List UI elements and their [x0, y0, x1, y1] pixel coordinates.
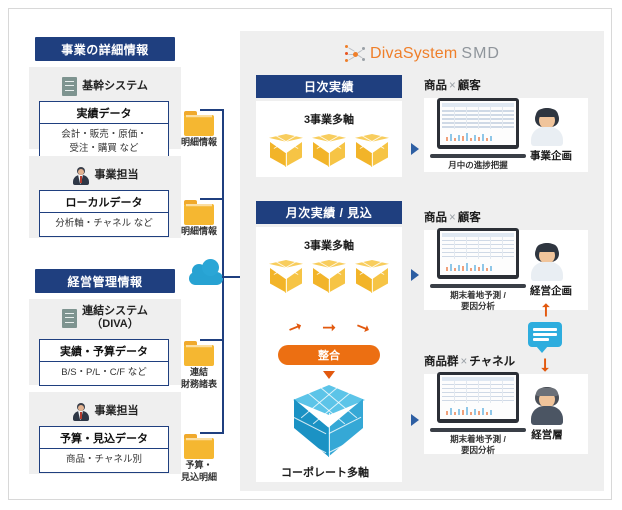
- step-arrow-icon: [411, 143, 419, 155]
- server-icon: [62, 77, 77, 96]
- logo-brand-text: DivaSystem: [370, 45, 457, 63]
- axis-label-monthly: 商品×顧客: [424, 209, 588, 225]
- cloud-icon: [189, 261, 223, 285]
- data-card-title: 実績・予算データ: [40, 340, 168, 362]
- axis-b: 顧客: [458, 80, 481, 92]
- source-block-budget-forecast: 事業担当 予算・見込データ 商品・チャネル別: [29, 392, 181, 474]
- folder-group-detail-1: 明細情報: [169, 111, 229, 149]
- laptop-icon: [430, 228, 526, 290]
- chat-bubble-icon: [528, 322, 562, 351]
- connector-stub-3: [200, 339, 224, 341]
- flow-header-monthly: 月次実績 / 見込: [256, 201, 402, 224]
- up-arrow-icon: ➞: [537, 302, 555, 317]
- persona-name-executive: 経営層: [530, 427, 564, 442]
- data-card-body: B/S・P/L・C/F など: [40, 362, 168, 385]
- corporate-cube-title: コーポレート多軸: [281, 464, 353, 480]
- connector-stub-2: [200, 198, 224, 200]
- cube-box-daily: 3事業多軸: [256, 101, 402, 177]
- product-logo: DivaSystem SMD: [240, 41, 604, 67]
- source-block-core-system: 基幹システム 実績データ 会計・販売・原価・ 受注・購買 など: [29, 67, 181, 149]
- data-card-actual-budget: 実績・予算データ B/S・P/L・C/F など: [39, 339, 169, 386]
- flow-card-daily: 日次実績 3事業多軸: [256, 75, 402, 177]
- cube-row-daily: [256, 134, 402, 168]
- axis-a: 商品: [424, 80, 447, 92]
- cube-row-monthly: [256, 260, 402, 294]
- data-card-title: ローカルデータ: [40, 191, 168, 213]
- business-cube-icon: [312, 260, 346, 294]
- output-box-executive: 期末着地予測 / 要因分析 経営層: [424, 374, 588, 454]
- folder-label: 予算・ 見込明細: [169, 460, 229, 483]
- data-sources-column: 事業の詳細情報 基幹システム 実績データ 会計・販売・原価・ 受注・購買 など …: [23, 23, 223, 489]
- connector-stub-1: [200, 109, 224, 111]
- multiply-symbol: ×: [459, 356, 470, 368]
- data-card-body: 商品・チャネル別: [40, 449, 168, 472]
- person-icon: [72, 166, 90, 185]
- business-cube-icon: [355, 260, 389, 294]
- source-header: 基幹システム: [29, 73, 181, 99]
- cube-title-monthly: 3事業多軸: [256, 227, 402, 253]
- flow-header-daily: 日次実績: [256, 75, 402, 98]
- laptop-caption-executive: 期末着地予測 / 要因分析: [430, 434, 526, 457]
- flow-card-monthly: 月次実績 / 見込 3事業多軸: [256, 201, 402, 482]
- source-block-consolidation-system: 連結システム （DIVA） 実績・予算データ B/S・P/L・C/F など: [29, 299, 181, 385]
- axis-a: 商品群: [424, 356, 459, 368]
- source-system-name: 事業担当: [95, 405, 139, 418]
- source-header: 連結システム （DIVA）: [29, 305, 181, 331]
- source-system-name: 事業担当: [95, 169, 139, 182]
- source-block-local-data: 事業担当 ローカルデータ 分析軸・チャネル など: [29, 156, 181, 238]
- down-arrow-icon: [323, 371, 335, 379]
- merge-arrow-icon: ➞: [353, 317, 373, 338]
- persona-name-daily: 事業企画: [530, 148, 572, 163]
- axis-label-executive: 商品群×チャネル: [424, 353, 588, 369]
- folder-icon: [184, 434, 214, 459]
- group-title-management: 経営管理情報: [35, 269, 175, 293]
- data-card-local: ローカルデータ 分析軸・チャネル など: [39, 190, 169, 237]
- folder-icon: [184, 200, 214, 225]
- cube-title-daily: 3事業多軸: [256, 101, 402, 127]
- logo-product-text: SMD: [461, 45, 500, 63]
- data-card-title: 予算・見込データ: [40, 427, 168, 449]
- multiply-symbol: ×: [447, 212, 458, 224]
- folder-label: 明細情報: [169, 137, 229, 149]
- laptop-caption-daily: 月中の進捗把握: [430, 160, 526, 171]
- business-cube-icon: [269, 260, 303, 294]
- diva-logo-mark-icon: [344, 44, 366, 64]
- step-arrow-icon: [411, 269, 419, 281]
- folder-label: 明細情報: [169, 226, 229, 238]
- diagram-frame: 事業の詳細情報 基幹システム 実績データ 会計・販売・原価・ 受注・購買 など …: [8, 8, 612, 500]
- avatar-business-planner: [530, 108, 564, 146]
- data-card-body: 分析軸・チャネル など: [40, 213, 168, 236]
- multiply-symbol: ×: [447, 80, 458, 92]
- connector-stub-4: [200, 432, 224, 434]
- folder-group-consolidated: 連結 財務諸表: [169, 341, 229, 390]
- folder-icon: [184, 111, 214, 136]
- source-system-name: 連結システム （DIVA）: [82, 305, 148, 330]
- output-box-daily: 月中の進捗把握 事業企画: [424, 98, 588, 172]
- laptop-icon: [430, 372, 526, 434]
- output-card-executive: 商品群×チャネル: [424, 353, 588, 454]
- output-card-monthly: 商品×顧客: [424, 209, 588, 310]
- smd-system-panel: DivaSystem SMD 日次実績 3事業多軸: [240, 31, 604, 491]
- data-card-budget: 予算・見込データ 商品・チャネル別: [39, 426, 169, 473]
- data-card-title: 実績データ: [40, 102, 168, 124]
- step-arrow-icon: [411, 414, 419, 426]
- avatar-management-planner: [530, 243, 564, 281]
- folder-label: 連結 財務諸表: [169, 367, 229, 390]
- business-cube-icon: [269, 134, 303, 168]
- merge-arrow-icon: ➞: [322, 319, 336, 336]
- group-title-business-detail: 事業の詳細情報: [35, 37, 175, 61]
- axis-a: 商品: [424, 212, 447, 224]
- business-cube-icon: [312, 134, 346, 168]
- folder-icon: [184, 341, 214, 366]
- source-header: 事業担当: [29, 162, 181, 188]
- axis-b: 顧客: [458, 212, 481, 224]
- merge-arrow-icon: ➞: [285, 317, 305, 338]
- laptop-icon: [430, 98, 526, 160]
- output-box-monthly: 期末着地予測 / 要因分析 経営企画: [424, 230, 588, 310]
- avatar-executive: [530, 387, 564, 425]
- axis-label-daily: 商品×顧客: [424, 77, 588, 93]
- source-system-name: 基幹システム: [82, 80, 148, 93]
- folder-group-budget: 予算・ 見込明細: [169, 434, 229, 483]
- corporate-cube-icon: コーポレート多軸: [293, 385, 365, 480]
- data-card-actual: 実績データ 会計・販売・原価・ 受注・購買 など: [39, 101, 169, 162]
- folder-group-detail-2: 明細情報: [169, 200, 229, 238]
- person-icon: [72, 402, 90, 421]
- cube-box-monthly: 3事業多軸 ➞ ➞: [256, 227, 402, 482]
- server-icon: [62, 309, 77, 328]
- axis-b: チャネル: [469, 356, 515, 368]
- output-card-daily: 商品×顧客: [424, 77, 588, 172]
- source-header: 事業担当: [29, 398, 181, 424]
- business-cube-icon: [355, 134, 389, 168]
- persona-name-monthly: 経営企画: [530, 283, 572, 298]
- reconcile-pill: 整合: [278, 345, 380, 365]
- laptop-caption-monthly: 期末着地予測 / 要因分析: [430, 290, 526, 313]
